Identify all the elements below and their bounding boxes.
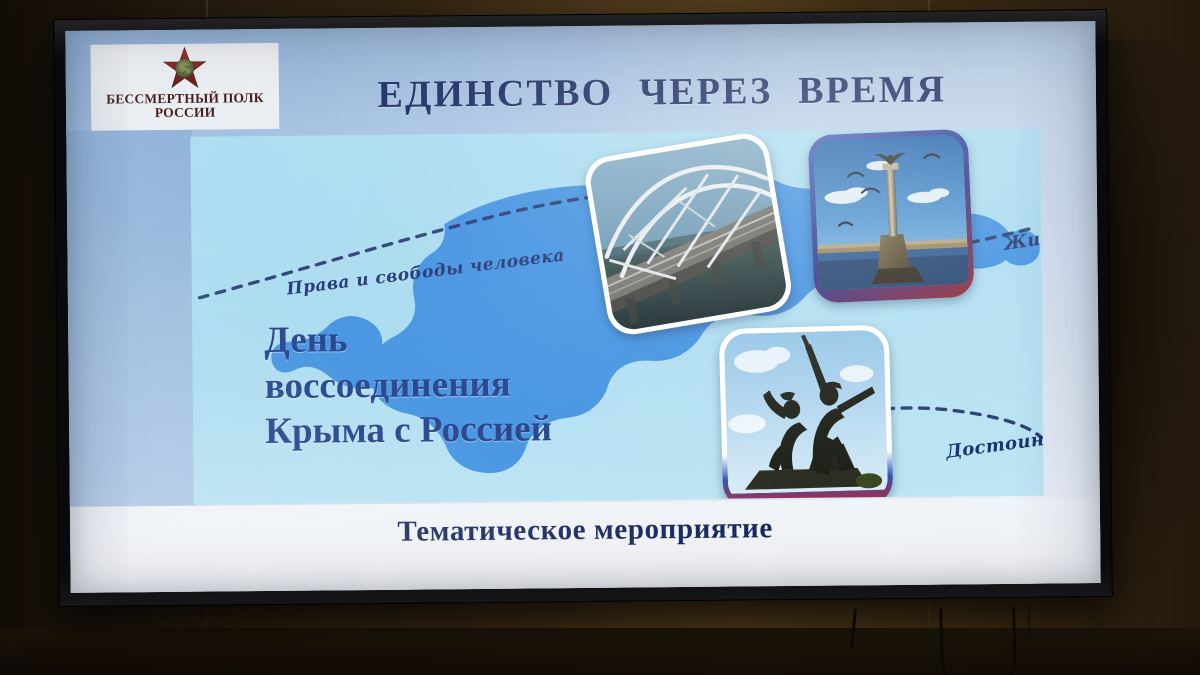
- slide-caption: Тематическое мероприятие: [397, 512, 773, 549]
- photo-frame-inner: [587, 136, 789, 333]
- photo-soldier-and-sailor-monument: [719, 325, 894, 504]
- slide-title: ЕДИНСТВО ЧЕРЕЗ ВРЕМЯ: [302, 67, 1022, 118]
- photo-frame-inner: [724, 330, 889, 504]
- heading-line-2: воссоединения: [265, 361, 552, 409]
- crimean-bridge-image: [587, 136, 789, 333]
- sunken-ships-monument-image: [813, 134, 970, 291]
- heading-line-1: День: [264, 315, 551, 363]
- television: БЕССМЕРТНЫЙ ПОЛК РОССИИ ЕДИНСТВО ЧЕРЕЗ В…: [54, 10, 1112, 606]
- bessmertny-polk-logo: БЕССМЕРТНЫЙ ПОЛК РОССИИ: [90, 43, 279, 131]
- red-star-icon: [161, 47, 207, 91]
- logo-line-2: РОССИИ: [155, 105, 216, 119]
- slide-left-margin: [66, 130, 196, 507]
- screenshot-stage: БЕССМЕРТНЫЙ ПОЛК РОССИИ ЕДИНСТВО ЧЕРЕЗ В…: [0, 0, 1200, 675]
- slide-content-panel: Права и свободы человека Жизнь Достоинст…: [190, 129, 1043, 504]
- soldier-and-sailor-image: [724, 330, 888, 494]
- photo-crimean-bridge: [582, 130, 795, 338]
- photo-frame-inner: [813, 134, 970, 299]
- heading-line-3: Крыма с Россией: [265, 406, 552, 454]
- tv-screen: БЕССМЕРТНЫЙ ПОЛК РОССИИ ЕДИНСТВО ЧЕРЕЗ В…: [65, 21, 1100, 593]
- wall-baseboard: [0, 628, 1200, 675]
- slide-caption-strip: Тематическое мероприятие: [70, 497, 1101, 593]
- slide-heading: День воссоединения Крыма с Россией: [264, 315, 552, 454]
- photo-sunken-ships-monument: [807, 129, 974, 304]
- presentation-slide: БЕССМЕРТНЫЙ ПОЛК РОССИИ ЕДИНСТВО ЧЕРЕЗ В…: [65, 21, 1100, 593]
- hanging-cable-loop: [939, 606, 1017, 675]
